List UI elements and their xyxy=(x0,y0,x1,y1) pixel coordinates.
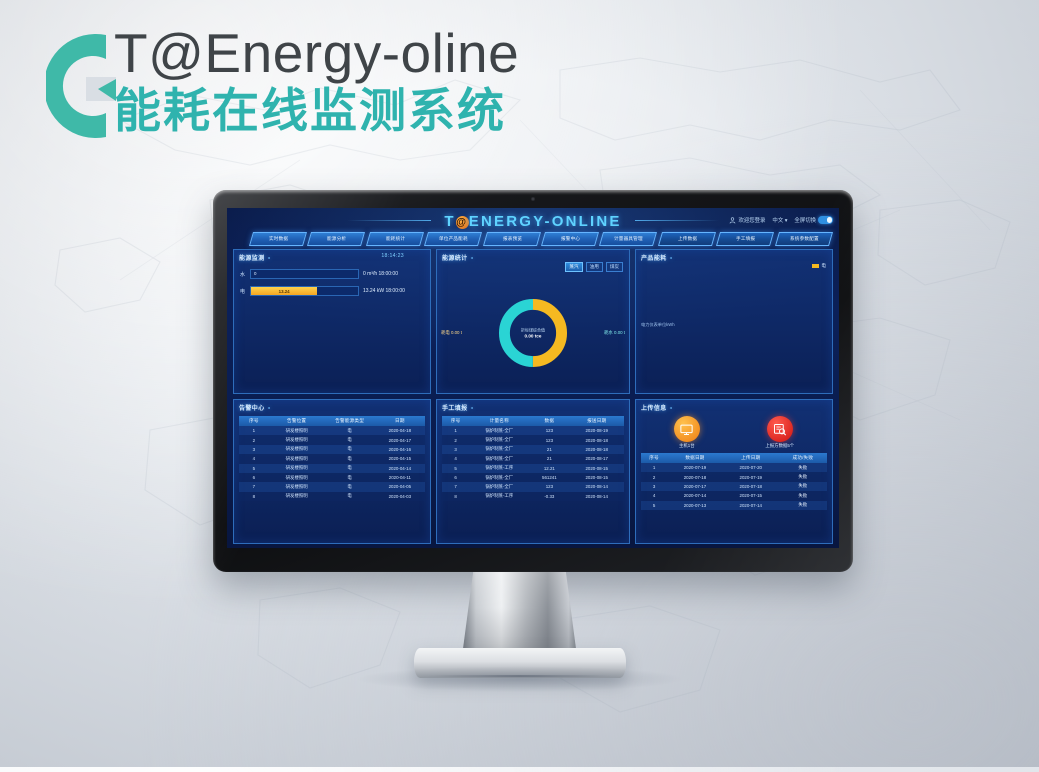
cell: 电 xyxy=(325,445,375,454)
cell: 123 xyxy=(529,435,569,444)
tab-coal[interactable]: 煤炭 xyxy=(606,262,623,272)
cell: 电 xyxy=(325,464,375,473)
table-row[interactable]: 7研发楼照明电2020-04-05 xyxy=(239,482,425,491)
person-icon xyxy=(729,217,736,224)
cell: 2020-08-17 xyxy=(569,454,624,463)
cell: 1 xyxy=(442,426,469,435)
table-row[interactable]: 3研发楼照明电2020-04-16 xyxy=(239,445,425,454)
cell: -0.33 xyxy=(529,492,569,501)
donut-center-value: 0.00 tce xyxy=(521,333,545,338)
manual-col-2: 数据 xyxy=(529,416,569,426)
toggle-switch[interactable] xyxy=(818,216,833,224)
nav-label-8: 手工填报 xyxy=(736,236,755,242)
table-row[interactable]: 4研发楼照明电2020-04-15 xyxy=(239,454,425,463)
nav-label-9: 系统参数配置 xyxy=(789,236,818,242)
cell: 锅炉制蒸-全厂 xyxy=(469,426,529,435)
nav-item-3[interactable]: 单位产品能耗 xyxy=(424,232,482,246)
alarm-table-body: 1研发楼照明电2020-04-18 2研发楼照明电2020-04-17 3研发楼… xyxy=(239,426,425,501)
cell: 锅炉制蒸-全厂 xyxy=(469,473,529,482)
user-label: 欢迎您登录 xyxy=(738,216,765,224)
bar-row-power: 电 13.24 13.24 kW 18:00:00 xyxy=(239,286,425,296)
table-row[interactable]: 1锅炉制蒸-全厂1232020-08-19 xyxy=(442,426,624,435)
cell: 研发楼照明 xyxy=(269,445,325,454)
cell: 8 xyxy=(239,492,269,501)
alarm-col-1: 告警位置 xyxy=(269,416,325,426)
table-row[interactable]: 5研发楼照明电2020-04-14 xyxy=(239,464,425,473)
cell: 2020-04-15 xyxy=(375,454,425,463)
language-menu[interactable]: 中文 ▾ xyxy=(772,216,787,224)
brand-header: T@Energy-oline 能耗在线监测系统 xyxy=(46,22,606,152)
cell: 2020-04-16 xyxy=(375,445,425,454)
cell: 2020-04-03 xyxy=(375,492,425,501)
cell: 4 xyxy=(239,454,269,463)
logo-icon xyxy=(46,27,116,145)
nav-item-7[interactable]: 上传数据 xyxy=(658,232,716,246)
table-row[interactable]: 6锅炉制蒸-全厂5612412020-08-15 xyxy=(442,473,624,482)
cell: 2020-08-19 xyxy=(569,426,624,435)
table-row[interactable]: 42020-07-142020-07-15失败 xyxy=(641,491,827,500)
cell: 2020-04-11 xyxy=(375,473,425,482)
status-badge: 失败 xyxy=(779,482,827,491)
alarm-col-3: 日期 xyxy=(375,416,425,426)
donut-chart: 折标煤综合值 0.00 tce 耗电 0.00 t 耗水 0.00 t xyxy=(437,274,629,391)
manual-entry-table: 序号 计量名称 数据 报送日期 1锅炉制蒸-全厂1232020-08-19 2锅… xyxy=(442,416,624,501)
cell: 2020-07-20 xyxy=(723,463,779,472)
table-row[interactable]: 2研发楼照明电2020-04-17 xyxy=(239,435,425,444)
brand-title-cn: 能耗在线监测系统 xyxy=(114,84,519,140)
user-bar: 欢迎您登录 中文 ▾ 全屏切换 xyxy=(729,216,833,224)
cell: 3 xyxy=(239,445,269,454)
donut-label-left: 耗电 0.00 t xyxy=(441,330,462,336)
cell: 研发楼照明 xyxy=(269,492,325,501)
panel-title-manual-entry: 手工填报◂ xyxy=(442,403,624,412)
cell: 2020-08-18 xyxy=(569,445,624,454)
nav-item-9[interactable]: 系统参数配置 xyxy=(775,232,833,246)
energy-monitor-title-text: 能源监测 xyxy=(239,253,265,262)
panel-title-alarm-center: 告警中心◂ xyxy=(239,403,425,412)
upload-col-1: 数据日期 xyxy=(667,453,723,463)
language-label: 中文 ▾ xyxy=(772,216,787,224)
nav-label-3: 单位产品能耗 xyxy=(439,236,468,242)
cell: 2020-07-14 xyxy=(667,491,723,500)
nav-item-0[interactable]: 实时数据 xyxy=(249,232,307,246)
table-row[interactable]: 7锅炉制蒸-全厂1232020-08-14 xyxy=(442,482,624,491)
cell: 2020-07-18 xyxy=(667,472,723,481)
bar-value-power: 13.24 xyxy=(279,289,290,294)
upload-col-0: 序号 xyxy=(641,453,667,463)
product-energy-title-text: 产品能耗 xyxy=(641,253,667,262)
manual-col-3: 报送日期 xyxy=(569,416,624,426)
bar-label-water: 水 xyxy=(239,271,246,278)
cell: 锅炉制蒸-工序 xyxy=(469,492,529,501)
upload-data-caption: 上报方数据5个 xyxy=(765,443,794,449)
dashboard-grid: 能源监测◂ 18:14:23 水 0 0 m³/h 18:00:00 电 xyxy=(233,249,833,544)
bar-value-water: 0 xyxy=(254,271,256,276)
cell: 电 xyxy=(325,473,375,482)
upload-col-3: 成功/失败 xyxy=(779,453,827,463)
product-energy-legend: 电 xyxy=(812,263,826,269)
fullscreen-toggle[interactable]: 全屏切换 xyxy=(794,216,833,224)
nav-item-1[interactable]: 能源分析 xyxy=(307,232,365,246)
user-account[interactable]: 欢迎您登录 xyxy=(729,216,765,224)
cell: 2020-08-18 xyxy=(569,435,624,444)
status-badge: 失败 xyxy=(779,472,827,481)
table-row[interactable]: 4锅炉制蒸-全厂212020-08-17 xyxy=(442,454,624,463)
nav-label-7: 上传数据 xyxy=(677,236,696,242)
nav-label-2: 能耗统计 xyxy=(385,236,404,242)
cell: 电 xyxy=(325,454,375,463)
fullscreen-label: 全屏切换 xyxy=(794,216,816,224)
bar-label-power: 电 xyxy=(239,288,246,295)
cell: 2020-04-18 xyxy=(375,426,425,435)
cell: 4 xyxy=(641,491,667,500)
cell: 2020-08-14 xyxy=(569,482,624,491)
upload-data-stat[interactable]: 上报方数据5个 xyxy=(765,416,794,449)
cell: 电 xyxy=(325,435,375,444)
cell: 研发楼照明 xyxy=(269,482,325,491)
panel-upload-info: 上传信息◂ 主机1台 xyxy=(635,399,833,544)
app-logo-post: ENERGY-ONLINE xyxy=(469,213,622,230)
bar-track-power: 13.24 xyxy=(250,286,359,296)
panel-title-upload-info: 上传信息◂ xyxy=(641,403,827,412)
cell: 研发楼照明 xyxy=(269,435,325,444)
cell: 2020-04-05 xyxy=(375,482,425,491)
cell: 2020-07-19 xyxy=(723,472,779,481)
alarm-col-0: 序号 xyxy=(239,416,269,426)
cell: 21 xyxy=(529,454,569,463)
upload-host-caption: 主机1台 xyxy=(674,443,700,449)
alarm-table-header: 序号 告警位置 告警能源类型 日期 xyxy=(239,416,425,426)
manual-entry-header: 序号 计量名称 数据 报送日期 xyxy=(442,416,624,426)
cell: 研发楼照明 xyxy=(269,454,325,463)
cell: 2020-04-17 xyxy=(375,435,425,444)
upload-table-header: 序号 数据日期 上传日期 成功/失败 xyxy=(641,453,827,463)
main-nav: 实时数据 能源分析 能耗统计 单位产品能耗 报表预览 报警中心 计量器具管理 上… xyxy=(251,232,831,246)
cell: 3 xyxy=(442,445,469,454)
table-row[interactable]: 1研发楼照明电2020-04-18 xyxy=(239,426,425,435)
donut-center-label: 折标煤综合值 0.00 tce xyxy=(521,327,545,338)
energy-stats-title-text: 能源统计 xyxy=(442,253,468,262)
cell: 3 xyxy=(641,482,667,491)
cell: 2 xyxy=(442,435,469,444)
cell: 2020-08-15 xyxy=(569,473,624,482)
nav-item-5[interactable]: 报警中心 xyxy=(541,232,599,246)
table-row[interactable]: 52020-07-132020-07-14失败 xyxy=(641,501,827,510)
cell: 锅炉制蒸-工序 xyxy=(469,464,529,473)
brand-title-en: T@Energy-oline xyxy=(114,22,519,84)
nav-item-6[interactable]: 计量器具管理 xyxy=(599,232,657,246)
cell: 5 xyxy=(442,464,469,473)
panel-energy-stats: 能源统计◂ 蒸汽 油用 煤炭 折标煤综合值 0.00 tce xyxy=(436,249,630,394)
donut-label-right: 耗水 0.00 t xyxy=(604,330,625,336)
document-search-icon xyxy=(767,416,793,442)
cell: 2020-07-18 xyxy=(723,482,779,491)
cell: 5 xyxy=(641,501,667,510)
cell: 2020-07-19 xyxy=(667,463,723,472)
table-row[interactable]: 32020-07-172020-07-18失败 xyxy=(641,482,827,491)
cell: 2020-07-13 xyxy=(667,501,723,510)
nav-label-1: 能源分析 xyxy=(327,236,346,242)
energy-stats-tabs: 蒸汽 油用 煤炭 xyxy=(565,262,623,272)
cell: 12.21 xyxy=(529,464,569,473)
table-row[interactable]: 3锅炉制蒸-全厂212020-08-18 xyxy=(442,445,624,454)
panel-energy-monitor: 能源监测◂ 18:14:23 水 0 0 m³/h 18:00:00 电 xyxy=(233,249,431,394)
table-row[interactable]: 8研发楼照明电2020-04-03 xyxy=(239,492,425,501)
cell: 2 xyxy=(239,435,269,444)
cell: 21 xyxy=(529,445,569,454)
upload-col-2: 上传日期 xyxy=(723,453,779,463)
cell: 电 xyxy=(325,492,375,501)
panel-alarm-center: 告警中心◂ 序号 告警位置 告警能源类型 日期 1研发楼照明电2020-04-1… xyxy=(233,399,431,544)
manual-col-1: 计量名称 xyxy=(469,416,529,426)
cell: 研发楼照明 xyxy=(269,473,325,482)
logo-wing-left xyxy=(347,220,431,221)
alarm-table: 序号 告警位置 告警能源类型 日期 1研发楼照明电2020-04-18 2研发楼… xyxy=(239,416,425,501)
panel-manual-entry: 手工填报◂ 序号 计量名称 数据 报送日期 1锅炉制蒸-全厂1232020-08… xyxy=(436,399,630,544)
nav-item-2[interactable]: 能耗统计 xyxy=(366,232,424,246)
manual-entry-title-text: 手工填报 xyxy=(442,403,468,412)
cell: 2020-08-14 xyxy=(569,492,624,501)
cell: 锅炉制蒸-全厂 xyxy=(469,435,529,444)
bar-track-water: 0 xyxy=(250,269,359,279)
nav-label-5: 报警中心 xyxy=(561,236,580,242)
product-energy-axis-note: 电力仪表单位kWh xyxy=(641,322,675,328)
cell: 6 xyxy=(239,473,269,482)
table-row[interactable]: 8锅炉制蒸-工序-0.332020-08-14 xyxy=(442,492,624,501)
status-badge: 失败 xyxy=(779,491,827,500)
cell: 锅炉制蒸-全厂 xyxy=(469,454,529,463)
panel-title-product-energy: 产品能耗◂ xyxy=(641,253,827,262)
cell: 研发楼照明 xyxy=(269,426,325,435)
cell: 7 xyxy=(442,482,469,491)
cell: 561241 xyxy=(529,473,569,482)
cell: 2020-07-17 xyxy=(667,482,723,491)
screen: T@ENERGY-ONLINE 欢迎您登录 中文 ▾ 全屏切换 实时数据 xyxy=(227,208,839,548)
webcam-icon xyxy=(531,197,535,201)
status-badge: 失败 xyxy=(779,463,827,472)
app-logo-pre: T xyxy=(444,213,455,230)
nav-label-0: 实时数据 xyxy=(269,236,288,242)
table-row[interactable]: 22020-07-182020-07-19失败 xyxy=(641,472,827,481)
cell: 6 xyxy=(442,473,469,482)
nav-item-8[interactable]: 手工填报 xyxy=(716,232,774,246)
cell: 4 xyxy=(442,454,469,463)
alarm-col-2: 告警能源类型 xyxy=(325,416,375,426)
cell: 123 xyxy=(529,426,569,435)
panel-product-energy: 产品能耗◂ 电 电力仪表单位kWh xyxy=(635,249,833,394)
upload-table-body: 12020-07-192020-07-20失败 22020-07-182020-… xyxy=(641,463,827,510)
table-row[interactable]: 5锅炉制蒸-工序12.212020-08-15 xyxy=(442,464,624,473)
nav-label-6: 计量器具管理 xyxy=(614,236,643,242)
cell: 2020-04-14 xyxy=(375,464,425,473)
tab-steam[interactable]: 蒸汽 xyxy=(565,262,582,272)
monitor-stand-neck xyxy=(462,572,578,660)
upload-table: 序号 数据日期 上传日期 成功/失败 12020-07-192020-07-20… xyxy=(641,453,827,510)
floor-shadow xyxy=(355,666,685,692)
bar-unit-power: 13.24 kW 18:00:00 xyxy=(363,288,425,294)
cell: 7 xyxy=(239,482,269,491)
energy-monitor-time: 18:14:23 xyxy=(381,253,404,259)
upload-info-title-text: 上传信息 xyxy=(641,403,667,412)
nav-label-4: 报表预览 xyxy=(502,236,521,242)
alarm-center-title-text: 告警中心 xyxy=(239,403,265,412)
cell: 8 xyxy=(442,492,469,501)
legend-label-power: 电 xyxy=(821,263,826,269)
status-badge: 失败 xyxy=(779,501,827,510)
cell: 研发楼照明 xyxy=(269,464,325,473)
energy-bars: 水 0 0 m³/h 18:00:00 电 13.24 xyxy=(239,269,425,296)
tab-oil[interactable]: 油用 xyxy=(586,262,603,272)
cell: 锅炉制蒸-全厂 xyxy=(469,445,529,454)
cell: 1 xyxy=(239,426,269,435)
panel-title-energy-stats: 能源统计◂ xyxy=(442,253,624,262)
cell: 锅炉制蒸-全厂 xyxy=(469,482,529,491)
at-symbol-icon: @ xyxy=(456,216,469,229)
computer-icon xyxy=(674,416,700,442)
monitor-frame: T@ENERGY-ONLINE 欢迎您登录 中文 ▾ 全屏切换 实时数据 xyxy=(213,190,853,572)
cell: 5 xyxy=(239,464,269,473)
cell: 电 xyxy=(325,426,375,435)
table-row[interactable]: 12020-07-192020-07-20失败 xyxy=(641,463,827,472)
legend-swatch-power xyxy=(812,264,819,268)
cell: 123 xyxy=(529,482,569,491)
bar-unit-water: 0 m³/h 18:00:00 xyxy=(363,271,425,277)
cell: 2 xyxy=(641,472,667,481)
table-row[interactable]: 2锅炉制蒸-全厂1232020-08-18 xyxy=(442,435,624,444)
table-row[interactable]: 6研发楼照明电2020-04-11 xyxy=(239,473,425,482)
nav-item-4[interactable]: 报表预览 xyxy=(483,232,541,246)
manual-entry-body: 1锅炉制蒸-全厂1232020-08-19 2锅炉制蒸-全厂1232020-08… xyxy=(442,426,624,501)
bar-fill-power: 13.24 xyxy=(251,287,317,295)
cell: 2020-07-14 xyxy=(723,501,779,510)
bar-row-water: 水 0 0 m³/h 18:00:00 xyxy=(239,269,425,279)
cell: 1 xyxy=(641,463,667,472)
upload-icon-row: 主机1台 上报方数据5个 xyxy=(641,416,827,449)
cell: 电 xyxy=(325,482,375,491)
upload-host-stat[interactable]: 主机1台 xyxy=(674,416,700,449)
logo-wing-right xyxy=(635,220,719,221)
manual-col-0: 序号 xyxy=(442,416,469,426)
cell: 2020-07-15 xyxy=(723,491,779,500)
cell: 2020-08-15 xyxy=(569,464,624,473)
